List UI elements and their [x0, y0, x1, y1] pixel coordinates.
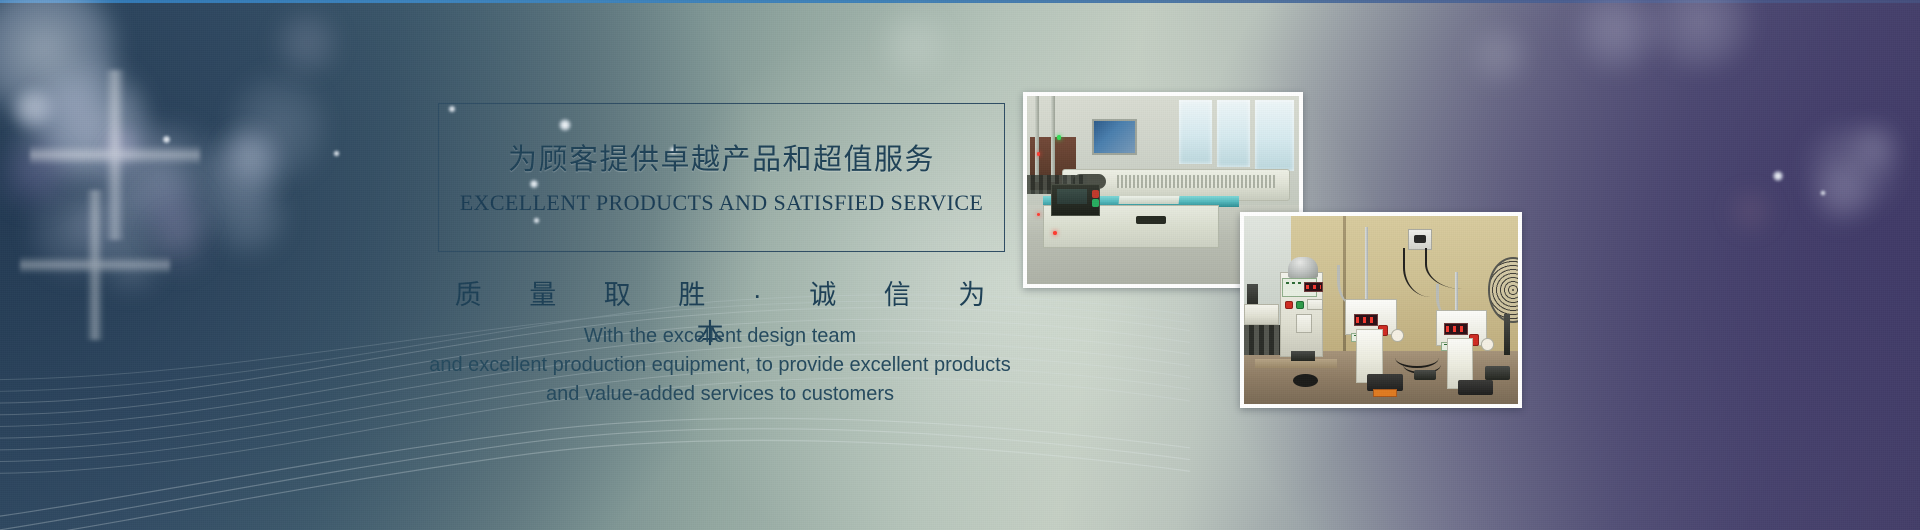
- foot-pedal: [1293, 374, 1318, 387]
- description-paragraph: With the excellent design team and excel…: [330, 322, 1110, 409]
- power-outlet: [1408, 229, 1432, 250]
- feeder-table: [1244, 304, 1279, 325]
- floor-tool: [1485, 366, 1510, 379]
- page-title: 为顾客提供卓越产品和超值服务: [438, 136, 1005, 178]
- photo-scene: [1244, 216, 1518, 404]
- press-base: [1458, 380, 1494, 395]
- floor-tool: [1414, 370, 1436, 379]
- green-button: [1092, 199, 1099, 207]
- description-line-1: With the excellent design team: [330, 322, 1110, 351]
- red-button: [1092, 190, 1099, 198]
- machine-anvil: [1291, 351, 1316, 360]
- machine-motor-cap: [1288, 257, 1318, 278]
- green-button: [1296, 301, 1304, 310]
- window: [1217, 100, 1250, 168]
- fan-stand: [1504, 314, 1509, 355]
- console-screen: [1057, 189, 1087, 204]
- status-led-green: [1057, 135, 1061, 139]
- hero-banner: 为顾客提供卓越产品和超值服务 EXCELLENT PRODUCTS AND SA…: [0, 0, 1920, 530]
- top-accent-rule: [0, 0, 1920, 3]
- red-button: [1285, 301, 1293, 310]
- frame-pole: [1035, 96, 1039, 182]
- warning-sticker: [1391, 329, 1404, 342]
- keypad-panel: [1307, 299, 1323, 310]
- side-placard: [1296, 314, 1312, 333]
- window: [1179, 100, 1212, 164]
- digital-display: [1444, 323, 1468, 335]
- drawer-handle: [1136, 216, 1166, 224]
- status-led-red: [1053, 231, 1057, 235]
- oven-vent-grille: [1117, 175, 1275, 188]
- feeder-rail: [1244, 325, 1280, 355]
- photo-workshop-press-machines: [1240, 212, 1522, 408]
- digital-display: [1304, 282, 1322, 292]
- description-line-2: and excellent production equipment, to p…: [330, 351, 1110, 380]
- orange-label: [1373, 389, 1397, 397]
- page-subtitle: EXCELLENT PRODUCTS AND SATISFIED SERVICE: [438, 190, 1005, 216]
- frame-pole: [1051, 96, 1055, 182]
- pcb-strip: [1119, 196, 1180, 204]
- monitor: [1092, 119, 1137, 155]
- digital-display: [1354, 314, 1378, 326]
- description-line-3: and value-added services to customers: [330, 380, 1110, 409]
- window: [1255, 100, 1293, 171]
